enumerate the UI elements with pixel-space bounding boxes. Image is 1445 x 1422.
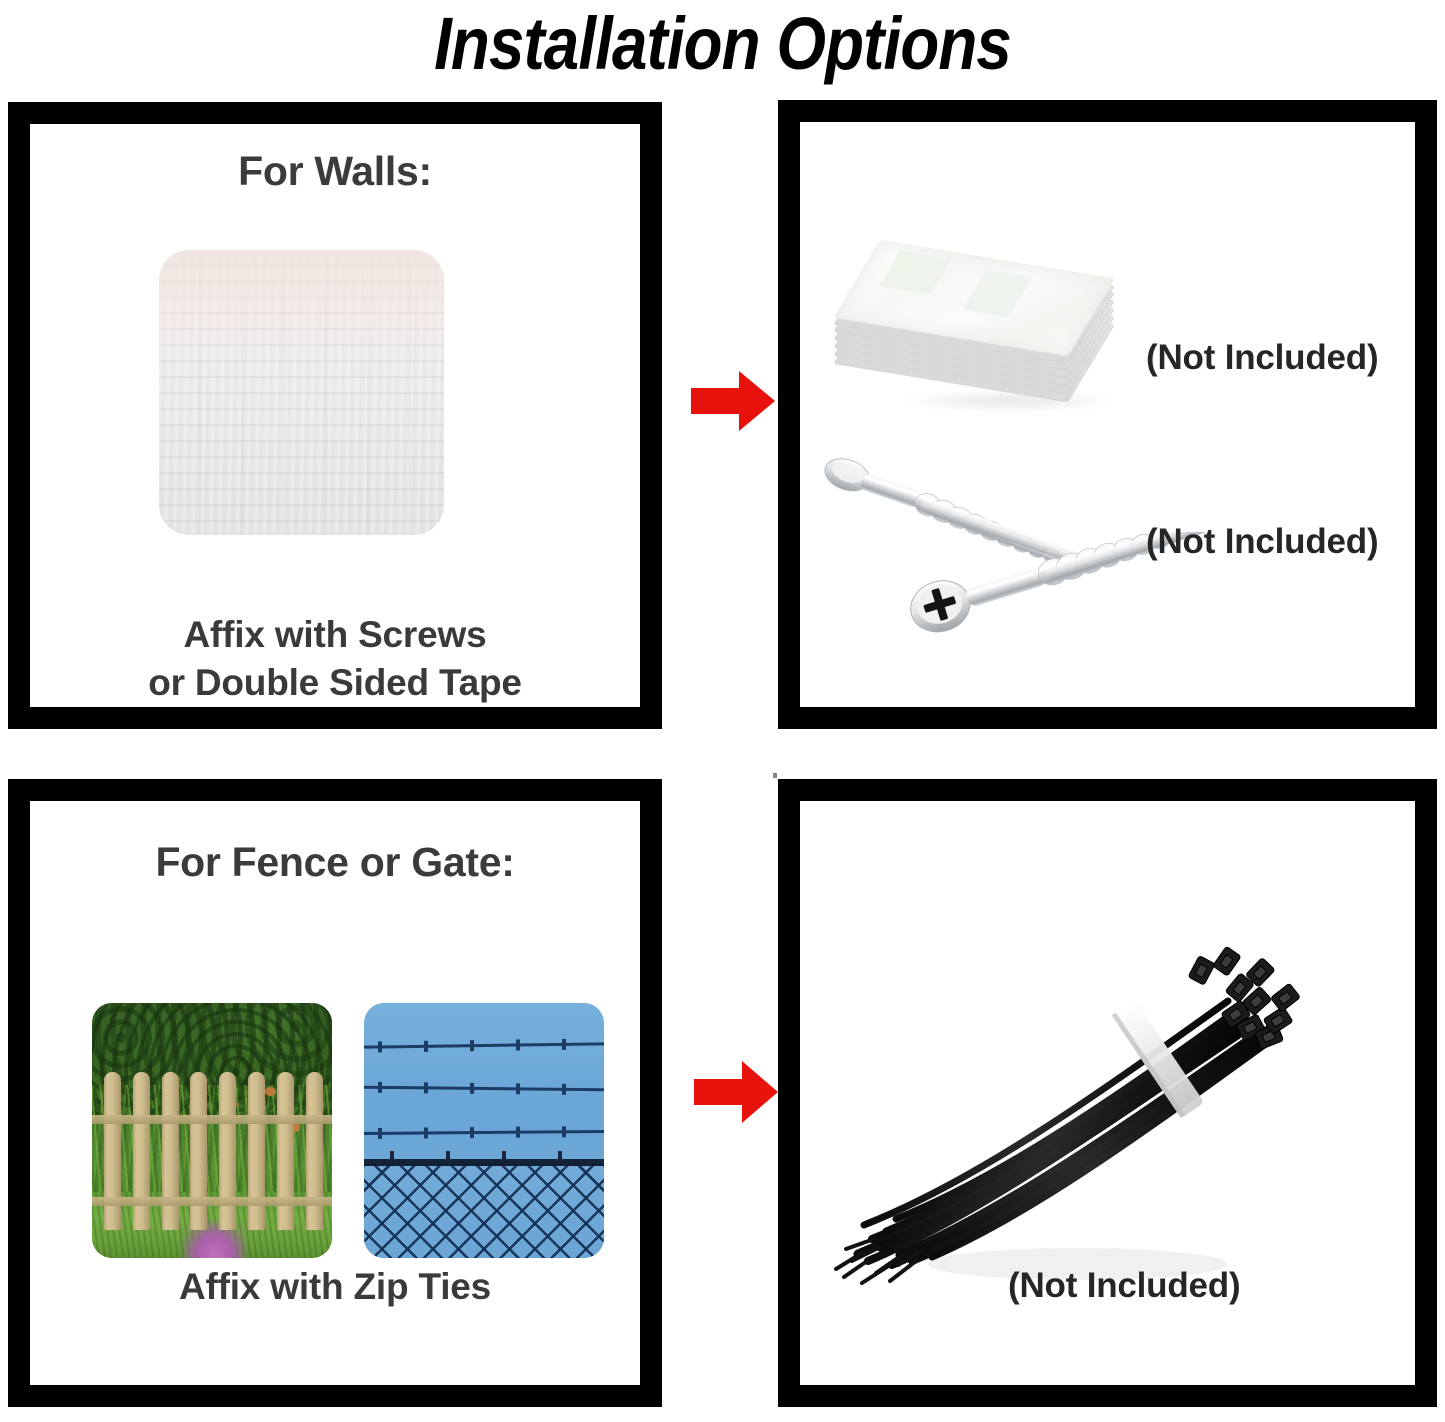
caption-line-1: Affix with Screws — [30, 611, 640, 659]
barbed-wire-strand — [364, 1042, 604, 1049]
panel-for-fence-or-gate: For Fence or Gate: — [8, 779, 662, 1407]
panel-fence-hardware: (Not Included) — [778, 779, 1437, 1407]
panel-heading-for-walls: For Walls: — [30, 148, 640, 195]
page-title: Installation Options — [101, 0, 1344, 90]
panel-caption-for-walls: Affix with Screws or Double Sided Tape — [30, 611, 640, 707]
caption-line-2: or Double Sided Tape — [30, 659, 640, 707]
panel-for-walls: For Walls: Affix with Screws or Double S… — [8, 102, 662, 729]
chain-link-fence-photo — [364, 1003, 604, 1258]
tape-stack-shadow — [902, 390, 1117, 412]
panel-caption-for-fence: Affix with Zip Ties — [30, 1263, 640, 1311]
screws-not-included-label: (Not Included) — [1146, 522, 1378, 562]
panel-wall-hardware: (Not Included) — [778, 100, 1437, 729]
double-sided-tape-stack-image — [880, 240, 1150, 420]
chain-link-mesh — [364, 1166, 604, 1258]
arrow-right-icon-bottom — [694, 1061, 778, 1123]
barbed-wire-strand — [364, 1129, 604, 1134]
arrow-right-icon-top — [691, 371, 775, 431]
fence-pickets — [92, 1003, 332, 1258]
wall-warm-highlight — [159, 250, 444, 375]
image-artifact-speck — [773, 773, 777, 778]
panel-heading-for-fence-or-gate: For Fence or Gate: — [30, 839, 640, 886]
white-brick-wall-image — [159, 250, 444, 535]
barbed-wire-strand — [364, 1086, 604, 1092]
tape-not-included-label: (Not Included) — [1146, 338, 1378, 378]
zip-ties-not-included-label: (Not Included) — [1008, 1266, 1240, 1306]
wooden-picket-fence-photo — [92, 1003, 332, 1258]
installation-options-infographic: Installation Options For Walls: Affix wi… — [0, 0, 1445, 1422]
zip-tie-bundle-image — [828, 909, 1308, 1299]
